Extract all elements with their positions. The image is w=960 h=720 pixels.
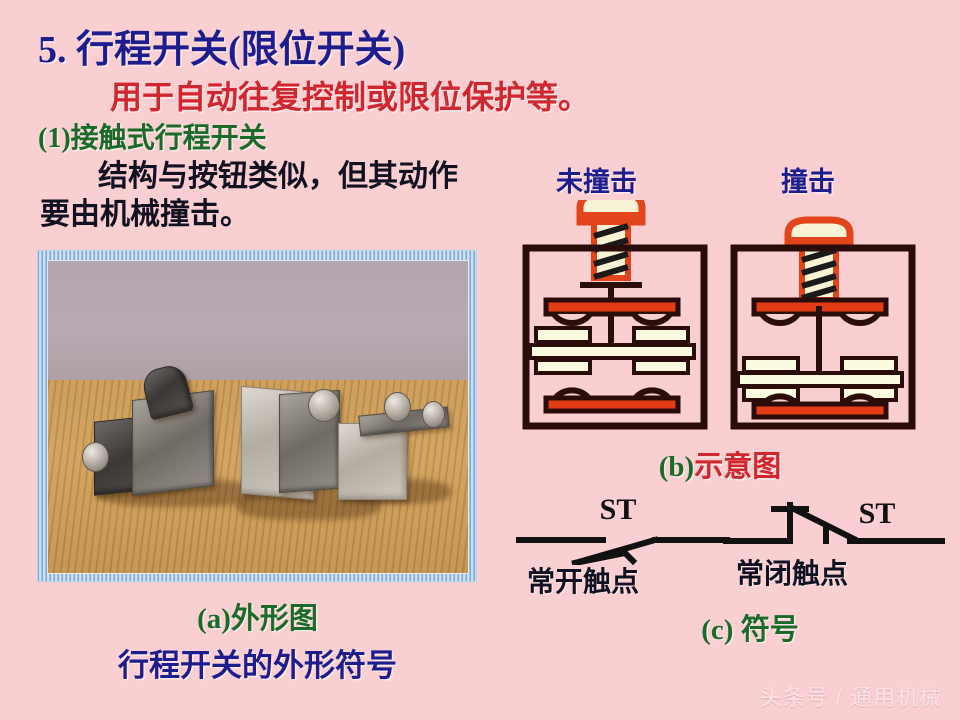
symbol-nc-designator: ST (859, 497, 896, 530)
photo-frame (37, 250, 477, 582)
symbol-caption-label: (c) (701, 614, 733, 646)
plunger-head-band (791, 237, 847, 244)
watermark: 头条号 / 通用机械 (760, 680, 942, 712)
section-title: (1)接触式行程开关 (38, 116, 267, 156)
symbol-no-caption: 常开触点 (527, 560, 639, 600)
photo-switch-left-knob (82, 442, 109, 472)
page-title: 5. 行程开关(限位开关) (38, 18, 405, 73)
symbol-no-designator: ST (600, 495, 637, 526)
state-label-not-struck: 未撞击 (556, 160, 637, 199)
photo-caption-text: 外形图 (231, 603, 318, 635)
mechanism-diagram-not-struck (520, 200, 710, 435)
symbol-section-caption: (c) 符号 (600, 606, 900, 648)
actuator-stem (608, 286, 614, 348)
mechanism-caption-text: 示意图 (694, 451, 781, 483)
page-title-number: 5. (38, 29, 67, 71)
state-label-struck: 撞击 (781, 160, 835, 199)
photo-switch-right-knob (422, 401, 445, 428)
slide-canvas: 5. 行程开关(限位开关) 用于自动往复控制或限位保护等。 (1)接触式行程开关… (0, 0, 960, 720)
symbol-nc-caption: 常闭触点 (736, 552, 848, 592)
photo-bottom-caption: 行程开关的外形符号 (0, 640, 515, 685)
actuator-stem (816, 306, 822, 378)
photo-caption-label: (a) (197, 603, 231, 635)
mechanism-caption-label: (b) (659, 451, 694, 483)
photo-backdrop (48, 261, 468, 380)
nc-contact-icon (726, 505, 942, 541)
symbol-caption-text: 符号 (741, 614, 799, 646)
photo-caption: (a)外形图 (0, 595, 515, 637)
photo-switch-center-knob (308, 389, 339, 422)
symbol-normally-open: ST (515, 495, 730, 565)
body-paragraph: 结构与按钮类似，但其动作要由机械撞击。 (40, 158, 480, 235)
no-contact-bridge (546, 390, 678, 411)
page-subtitle: 用于自动往复控制或限位保护等。 (110, 72, 590, 118)
no-contact-bridge (754, 396, 886, 417)
mechanism-diagram-struck (728, 200, 918, 435)
page-title-text: 行程开关(限位开关) (76, 29, 405, 71)
mechanism-caption: (b)示意图 (520, 443, 920, 485)
limit-switch-photo (47, 260, 469, 574)
plunger-head-band (583, 212, 639, 219)
